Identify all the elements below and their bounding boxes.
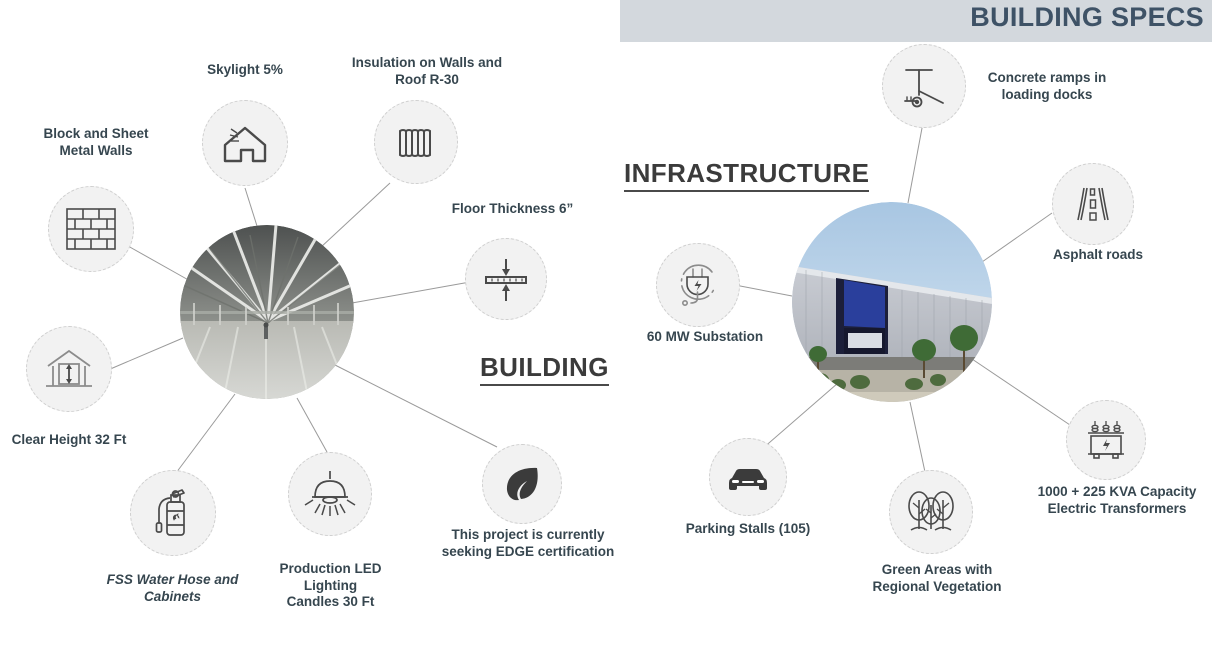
label-parking-stalls: Parking Stalls (105): [673, 521, 823, 538]
label-green-areas: Green Areas with Regional Vegetation: [856, 562, 1018, 595]
label-skylight: Skylight 5%: [175, 62, 315, 79]
label-floor-thickness: Floor Thickness 6”: [430, 201, 595, 218]
building-exterior-photo: [792, 202, 992, 402]
page-title: BUILDING SPECS: [970, 2, 1204, 33]
label-block-walls: Block and Sheet Metal Walls: [26, 126, 166, 159]
clear-height-icon: [26, 326, 112, 412]
label-clear-height: Clear Height 32 Ft: [0, 432, 139, 449]
leaf-icon: [482, 444, 562, 524]
section-title-building: BUILDING: [480, 352, 609, 386]
floor-thickness-icon: [465, 238, 547, 320]
road-icon: [1052, 163, 1134, 245]
transformer-icon: [1066, 400, 1146, 480]
label-substation: 60 MW Substation: [630, 329, 780, 346]
house-skylight-icon: [202, 100, 288, 186]
insulation-panel-icon: [374, 100, 458, 184]
car-icon: [709, 438, 787, 516]
fire-extinguisher-icon: [130, 470, 216, 556]
dock-ramp-icon: [882, 44, 966, 128]
section-title-infrastructure: INFRASTRUCTURE: [624, 158, 869, 192]
label-concrete-ramps: Concrete ramps in loading docks: [962, 70, 1132, 103]
pendant-lamp-icon: [288, 452, 372, 536]
label-insulation: Insulation on Walls and Roof R-30: [347, 55, 507, 88]
trees-icon: [889, 470, 973, 554]
brick-wall-icon: [48, 186, 134, 272]
warehouse-interior-photo: [180, 225, 354, 399]
label-production-led: Production LED Lighting Candles 30 Ft: [258, 561, 403, 611]
power-plug-icon: [656, 243, 740, 327]
label-asphalt-roads: Asphalt roads: [1023, 247, 1173, 264]
label-transformers: 1000 + 225 KVA Capacity Electric Transfo…: [1022, 484, 1212, 517]
label-edge-cert: This project is currently seeking EDGE c…: [435, 527, 621, 560]
label-fss-water-hose: FSS Water Hose and Cabinets: [95, 572, 250, 605]
